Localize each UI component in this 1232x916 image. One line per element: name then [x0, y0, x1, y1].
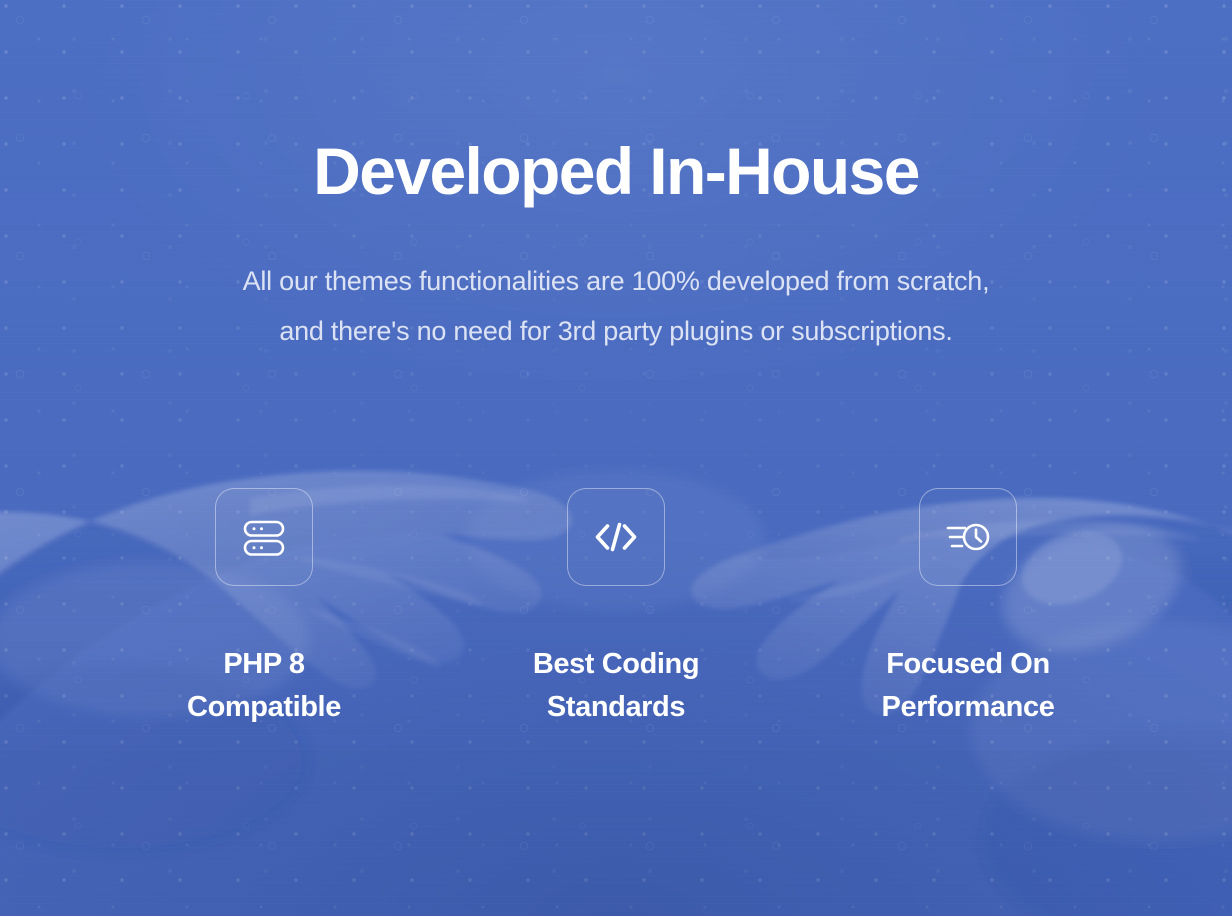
feature-label-line-2: Compatible [187, 686, 341, 729]
feature-list: PHP 8 Compatible Best Coding [0, 488, 1232, 729]
feature-label-line-1: PHP 8 [187, 643, 341, 686]
feature-item-performance: Focused On Performance [792, 488, 1144, 729]
feature-item-php8: PHP 8 Compatible [88, 488, 440, 729]
feature-icon-box [567, 488, 665, 586]
developed-in-house-section: Developed In-House All our themes functi… [0, 0, 1232, 916]
feature-label-line-1: Best Coding [533, 643, 699, 686]
subtitle-line-2: and there's no need for 3rd party plugin… [243, 306, 990, 356]
feature-label: PHP 8 Compatible [187, 643, 341, 729]
server-icon [238, 511, 290, 563]
feature-icon-box [919, 488, 1017, 586]
feature-icon-box [215, 488, 313, 586]
feature-label: Focused On Performance [882, 643, 1055, 729]
feature-label-line-1: Focused On [882, 643, 1055, 686]
code-brackets-icon [590, 511, 642, 563]
feature-label-line-2: Performance [882, 686, 1055, 729]
page-title: Developed In-House [313, 131, 919, 211]
feature-label: Best Coding Standards [533, 643, 699, 729]
subtitle-line-1: All our themes functionalities are 100% … [243, 256, 990, 306]
feature-item-coding-standards: Best Coding Standards [440, 488, 792, 729]
feature-label-line-2: Standards [533, 686, 699, 729]
section-subtitle: All our themes functionalities are 100% … [243, 256, 990, 356]
section-content: Developed In-House All our themes functi… [0, 0, 1232, 916]
speed-clock-icon [942, 511, 994, 563]
